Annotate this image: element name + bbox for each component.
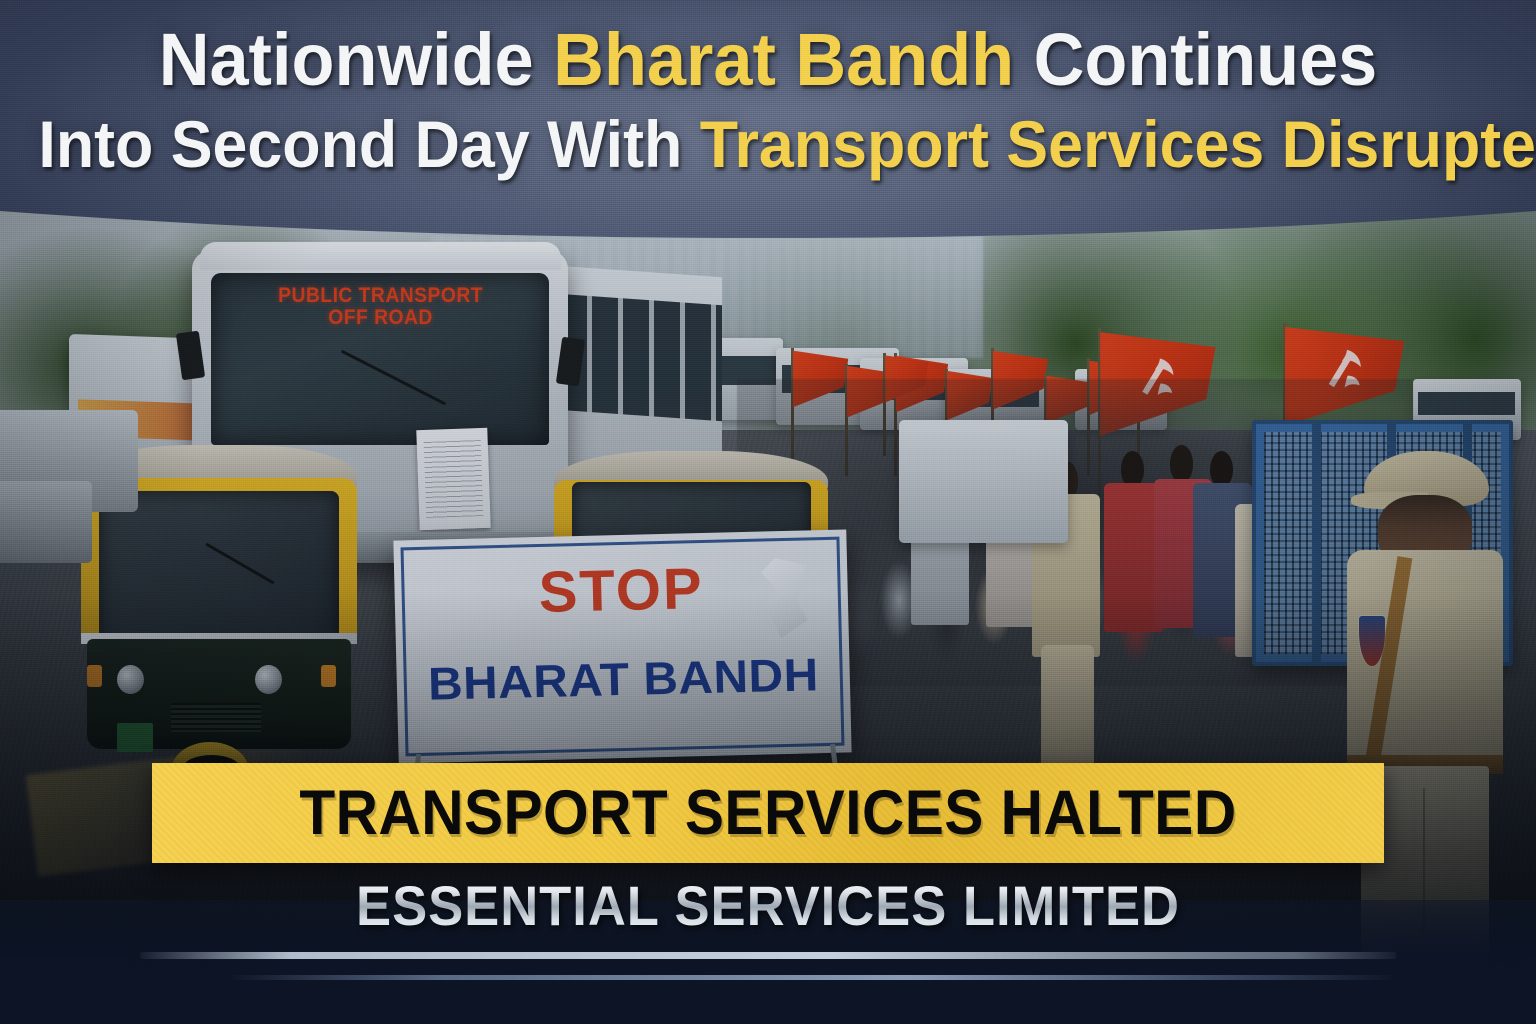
headline-part-2a: Into Second Day With bbox=[38, 107, 699, 181]
parked-car-left-2 bbox=[0, 481, 92, 563]
protest-sign-board: STOP BHARAT BANDH bbox=[394, 529, 852, 763]
headline-wrapper: Nationwide Bharat Bandh Continues Into S… bbox=[0, 22, 1536, 179]
rickshaw-headlight-right bbox=[255, 665, 282, 694]
main-banner-text: TRANSPORT SERVICES HALTED bbox=[195, 763, 1341, 863]
flagbearer-head bbox=[1210, 451, 1233, 488]
rickshaw-indicator-right bbox=[321, 665, 336, 688]
subhead-text: ESSENTIAL SERVICES LIMITED bbox=[46, 873, 1490, 938]
bus-display-line-1: PUBLIC TRANSPORT bbox=[228, 285, 533, 306]
rickshaw-headlight-left bbox=[117, 665, 144, 694]
bus-destination-display: PUBLIC TRANSPORT OFF ROAD bbox=[228, 285, 533, 328]
protester-head-4 bbox=[1170, 445, 1193, 482]
protester-head-3 bbox=[1121, 451, 1144, 488]
bus-side-windows bbox=[561, 294, 722, 421]
headline-part-1c: Continues bbox=[1014, 18, 1377, 101]
bus-roof bbox=[200, 242, 561, 270]
police-legs-center bbox=[1041, 645, 1093, 778]
decorative-rule-bottom bbox=[232, 975, 1392, 980]
decorative-rule-top bbox=[140, 952, 1396, 959]
headline-band: Nationwide Bharat Bandh Continues Into S… bbox=[0, 0, 1536, 238]
news-graphic-card: PUBLIC TRANSPORT OFF ROAD bbox=[0, 0, 1536, 1024]
headline-part-1b: Bharat Bandh bbox=[553, 18, 1014, 101]
rickshaw-permit-sticker bbox=[117, 723, 153, 752]
police-van bbox=[899, 420, 1068, 543]
rickshaw-indicator-left bbox=[87, 665, 102, 688]
headline-part-2b: Transport Services Disrupted bbox=[700, 107, 1536, 181]
main-banner: TRANSPORT SERVICES HALTED bbox=[152, 763, 1384, 863]
rickshaw-grill bbox=[171, 703, 261, 732]
bus-display-line-2: OFF ROAD bbox=[228, 307, 533, 328]
sign-bharat-bandh-text: BHARAT BANDH bbox=[388, 649, 860, 706]
headline-line-1: Nationwide Bharat Bandh Continues bbox=[38, 22, 1497, 97]
headline-part-1a: Nationwide bbox=[159, 18, 553, 101]
headline-line-2: Into Second Day With Transport Services … bbox=[38, 111, 1497, 178]
bus-notice-paper bbox=[416, 428, 491, 530]
